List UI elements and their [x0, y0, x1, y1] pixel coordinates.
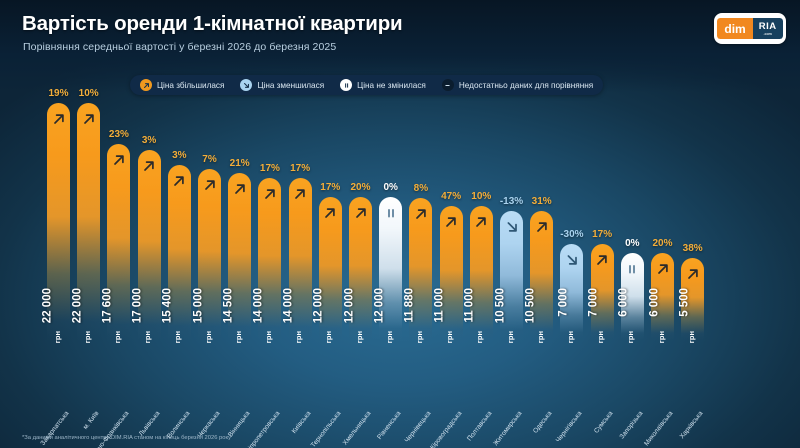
bar-region-label: Полтавська: [466, 410, 493, 442]
arrow-up-right-icon: [138, 157, 161, 175]
bar-change-label: 0%: [383, 182, 397, 193]
bar-unit-label: грн: [626, 331, 635, 343]
bar-unit-label: грн: [596, 331, 605, 343]
bar-region-label: Тернопільська: [310, 410, 343, 448]
bar-unit-label: грн: [83, 331, 92, 343]
bar-column[interactable]: 20%6 000грнМиколаївська: [651, 0, 674, 448]
bar-region-label: Рівненська: [376, 410, 402, 441]
bar-unit-label: грн: [475, 331, 484, 343]
bar-region-label: Хмельницька: [342, 410, 373, 447]
arrow-up-right-icon: [681, 265, 704, 283]
bar-column[interactable]: 3%15 400грнВолинська: [168, 0, 191, 448]
bar-unit-label: грн: [264, 331, 273, 343]
bar-change-label: 3%: [172, 150, 186, 161]
arrow-up-right-icon: [258, 185, 281, 203]
pause-icon: [621, 260, 644, 278]
bar-value-label: 7 000: [558, 288, 570, 317]
bar-change-label: 47%: [441, 191, 461, 202]
bar-unit-label: грн: [656, 331, 665, 343]
bar-change-label: 3%: [142, 135, 156, 146]
bar-unit-label: грн: [687, 331, 696, 343]
bar-value-label: 12 000: [313, 288, 325, 323]
bar-column[interactable]: 19%22 000грнЗакарпатська: [47, 0, 70, 448]
bar-value-label: 22 000: [71, 288, 83, 323]
arrow-up-right-icon: [409, 205, 432, 223]
pause-icon: [379, 204, 402, 222]
bar-column[interactable]: 3%17 000грнЛьвівська: [138, 0, 161, 448]
bar-change-label: 21%: [230, 158, 250, 169]
bar-change-label: 17%: [290, 163, 310, 174]
bar-unit-label: грн: [566, 331, 575, 343]
bar-change-label: 31%: [532, 196, 552, 207]
footnote: *За даними аналітичного центру DIM.RIA с…: [22, 435, 231, 441]
bar-value-label: 10 500: [524, 288, 536, 323]
arrow-up-right-icon: [77, 110, 100, 128]
arrow-up-right-icon: [289, 185, 312, 203]
bar-unit-label: грн: [294, 331, 303, 343]
infographic-root: Вартість оренди 1-кімнатної квартири Пор…: [0, 0, 800, 448]
bar-change-label: 17%: [592, 229, 612, 240]
bar-column[interactable]: 10%11 000грнПолтавська: [470, 0, 493, 448]
bar-column[interactable]: 23%17 600грнІвано-Франківська: [107, 0, 130, 448]
bar-change-label: 0%: [625, 238, 639, 249]
bar-change-label: 17%: [320, 182, 340, 193]
arrow-up-right-icon: [319, 204, 342, 222]
bar-region-label: Миколаївська: [643, 410, 674, 447]
bar-unit-label: грн: [445, 331, 454, 343]
bar-unit-label: грн: [52, 331, 61, 343]
bar-change-label: 10%: [471, 191, 491, 202]
bar-value-label: 7 000: [588, 288, 600, 317]
bar-region-label: Закарпатська: [39, 410, 70, 447]
arrow-down-right-icon: [560, 251, 583, 269]
bar-change-label: 20%: [652, 238, 672, 249]
bar-change-label: -13%: [500, 196, 523, 207]
bar-value-label: 11 880: [404, 288, 416, 323]
bar-column[interactable]: 20%12 000грнХмельницька: [349, 0, 372, 448]
bar-column[interactable]: 0%6 000грнЗапорізька: [621, 0, 644, 448]
bar-region-label: Київська: [290, 410, 312, 435]
bar-unit-label: грн: [324, 331, 333, 343]
bar-region-label: Чернівецька: [404, 410, 433, 444]
arrow-up-right-icon: [530, 218, 553, 236]
bar-value-label: 6 000: [648, 288, 660, 317]
bar-value-label: 14 000: [252, 288, 264, 323]
bar-value-label: 12 000: [373, 288, 385, 323]
bar-column[interactable]: 17%7 000грнСумська: [591, 0, 614, 448]
bar-value-label: 11 000: [464, 288, 476, 323]
bar-column[interactable]: 17%12 000грнТернопільська: [319, 0, 342, 448]
bar-change-label: 17%: [260, 163, 280, 174]
bar-region-label: Запорізька: [618, 410, 644, 440]
bar-column[interactable]: 31%10 500грнОдеська: [530, 0, 553, 448]
bar-column[interactable]: 21%14 500грнВінницька: [228, 0, 251, 448]
bar-column[interactable]: 0%12 000грнРівненська: [379, 0, 402, 448]
bar-change-label: 20%: [350, 182, 370, 193]
bar-change-label: -30%: [560, 229, 583, 240]
bar-unit-label: грн: [203, 331, 212, 343]
bar-unit-label: грн: [173, 331, 182, 343]
bar-value-label: 15 000: [192, 288, 204, 323]
bar-region-label: Одеська: [532, 410, 553, 435]
bar-unit-label: грн: [415, 331, 424, 343]
bar-chart: 19%22 000грнЗакарпатська10%22 000грнм. К…: [0, 0, 800, 448]
arrow-up-right-icon: [198, 176, 221, 194]
bar-region-label: Чернігівська: [555, 410, 584, 444]
bar-column[interactable]: 47%11 000грнКіровоградська: [440, 0, 463, 448]
bar-column[interactable]: 17%14 000грнКиївська: [289, 0, 312, 448]
arrow-down-right-icon: [500, 218, 523, 236]
bar-change-label: 7%: [202, 154, 216, 165]
arrow-up-right-icon: [107, 151, 130, 169]
bar-value-label: 10 500: [494, 288, 506, 323]
arrow-up-right-icon: [349, 204, 372, 222]
bar-column[interactable]: 38%5 500грнХарківська: [681, 0, 704, 448]
bar-change-label: 8%: [414, 183, 428, 194]
bar-value-label: 11 000: [434, 288, 446, 323]
bar-change-label: 19%: [48, 88, 68, 99]
bar-unit-label: грн: [536, 331, 545, 343]
bar-region-label: Харківська: [679, 410, 705, 440]
bar-change-label: 38%: [683, 243, 703, 254]
bar-column[interactable]: 17%14 000грнДніпропетровська: [258, 0, 281, 448]
arrow-up-right-icon: [440, 213, 463, 231]
arrow-up-right-icon: [168, 172, 191, 190]
bar-region-label: Житомирська: [492, 410, 523, 447]
bar-value-label: 15 400: [162, 288, 174, 323]
bar-unit-label: грн: [505, 331, 514, 343]
arrow-up-right-icon: [47, 110, 70, 128]
bar-region-label: м. Київ: [82, 410, 100, 431]
bar-unit-label: грн: [354, 331, 363, 343]
bar-value-label: 14 500: [222, 288, 234, 323]
bar-value-label: 22 000: [41, 288, 53, 323]
bar-region-label: Кіровоградська: [429, 410, 463, 448]
arrow-up-right-icon: [470, 213, 493, 231]
bar-value-label: 5 500: [678, 288, 690, 317]
bar-column[interactable]: -30%7 000грнЧернігівська: [560, 0, 583, 448]
bar-unit-label: грн: [234, 331, 243, 343]
bar-unit-label: грн: [143, 331, 152, 343]
bar-unit-label: грн: [385, 331, 394, 343]
bar-unit-label: грн: [113, 331, 122, 343]
bar-value-label: 14 000: [283, 288, 295, 323]
bar-value-label: 12 000: [343, 288, 355, 323]
arrow-up-right-icon: [591, 251, 614, 269]
bar-column[interactable]: 7%15 000грнЧеркаська: [198, 0, 221, 448]
bar-column[interactable]: 8%11 880грнЧернівецька: [409, 0, 432, 448]
bar-column[interactable]: -13%10 500грнЖитомирська: [500, 0, 523, 448]
bar-change-label: 23%: [109, 129, 129, 140]
bar-value-label: 17 000: [132, 288, 144, 323]
bar-region-label: Сумська: [593, 410, 614, 435]
bar-value-label: 17 600: [101, 288, 113, 323]
bar-column[interactable]: 10%22 000грнм. Київ: [77, 0, 100, 448]
bar-region-label: Львівська: [137, 410, 161, 438]
bar-value-label: 6 000: [618, 288, 630, 317]
arrow-up-right-icon: [228, 180, 251, 198]
arrow-up-right-icon: [651, 260, 674, 278]
bar-change-label: 10%: [79, 88, 99, 99]
